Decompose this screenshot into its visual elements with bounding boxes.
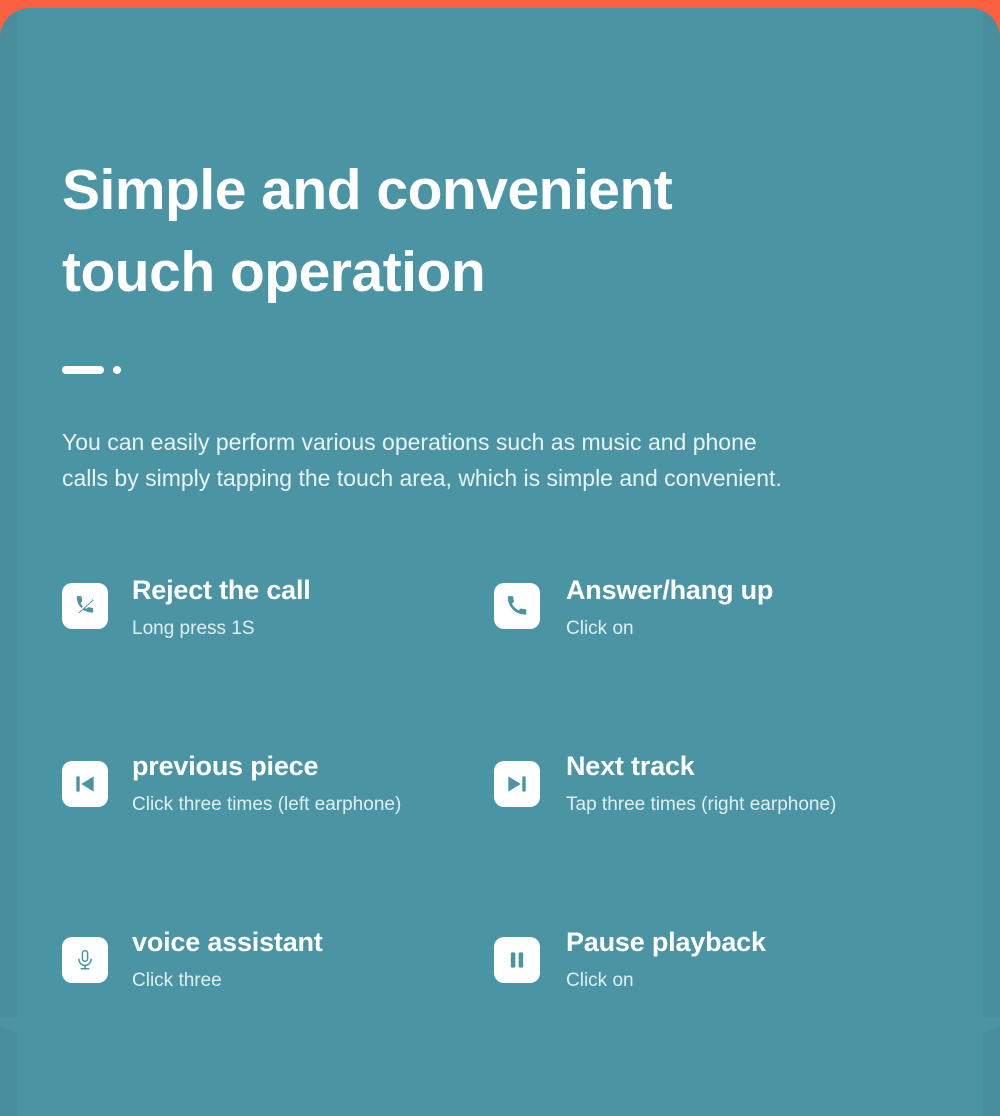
feature-title: Answer/hang up bbox=[566, 573, 773, 607]
page-title: Simple and convenient touch operation bbox=[62, 8, 762, 313]
next-track-icon bbox=[494, 761, 540, 807]
feature-item-previous-track: previous piece Click three times (left e… bbox=[62, 749, 494, 925]
feature-text: Pause playback Click on bbox=[566, 925, 766, 994]
feature-title: voice assistant bbox=[132, 925, 323, 959]
feature-item-reject-call: Reject the call Long press 1S bbox=[62, 573, 494, 749]
phone-handset-icon bbox=[494, 583, 540, 629]
feature-item-pause-playback: Pause playback Click on bbox=[494, 925, 938, 1101]
content-wrapper: Simple and convenient touch operation Yo… bbox=[0, 8, 1000, 1101]
feature-item-next-track: Next track Tap three times (right earpho… bbox=[494, 749, 938, 925]
pause-icon bbox=[494, 937, 540, 983]
feature-text: Next track Tap three times (right earpho… bbox=[566, 749, 836, 818]
previous-track-icon bbox=[62, 761, 108, 807]
intro-line-1: You can easily perform various operation… bbox=[62, 424, 852, 460]
divider-dot-icon bbox=[113, 366, 121, 374]
feature-subtitle: Click on bbox=[566, 616, 773, 642]
feature-subtitle: Click three bbox=[132, 968, 323, 994]
microphone-icon bbox=[62, 937, 108, 983]
promo-banner: Simple and convenient touch operation Yo… bbox=[0, 0, 1000, 1116]
intro-paragraph: You can easily perform various operation… bbox=[62, 375, 852, 496]
feature-subtitle: Long press 1S bbox=[132, 616, 311, 642]
feature-title: previous piece bbox=[132, 749, 401, 783]
page-title-line-2: touch operation bbox=[62, 231, 762, 313]
intro-line-2: calls by simply tapping the touch area, … bbox=[62, 460, 852, 496]
feature-subtitle: Tap three times (right earphone) bbox=[566, 792, 836, 818]
divider-dash-icon bbox=[62, 366, 104, 374]
feature-item-voice-assistant: voice assistant Click three bbox=[62, 925, 494, 1101]
feature-subtitle: Click three times (left earphone) bbox=[132, 792, 401, 818]
phone-hangup-icon bbox=[62, 583, 108, 629]
feature-subtitle: Click on bbox=[566, 968, 766, 994]
feature-text: previous piece Click three times (left e… bbox=[132, 749, 401, 818]
feature-grid: Reject the call Long press 1S Answer/han… bbox=[62, 573, 938, 1101]
feature-text: Reject the call Long press 1S bbox=[132, 573, 311, 642]
feature-title: Next track bbox=[566, 749, 836, 783]
feature-text: voice assistant Click three bbox=[132, 925, 323, 994]
feature-text: Answer/hang up Click on bbox=[566, 573, 773, 642]
feature-title: Pause playback bbox=[566, 925, 766, 959]
content-card: Simple and convenient touch operation Yo… bbox=[0, 8, 1000, 1116]
feature-title: Reject the call bbox=[132, 573, 311, 607]
divider bbox=[62, 365, 938, 375]
feature-item-answer-hangup: Answer/hang up Click on bbox=[494, 573, 938, 749]
page-title-line-1: Simple and convenient bbox=[62, 149, 762, 231]
